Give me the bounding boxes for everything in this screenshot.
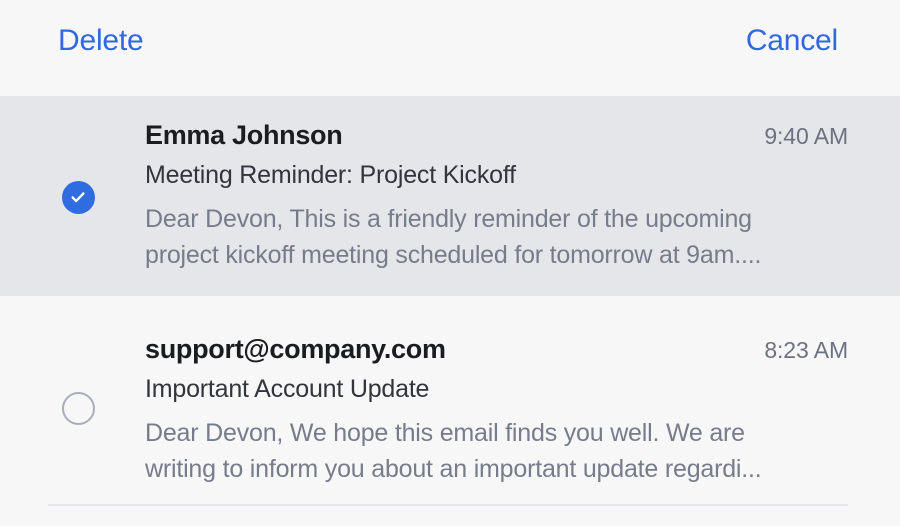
selection-toolbar: Delete Cancel bbox=[0, 0, 900, 82]
mail-header-line: support@company.com 8:23 AM bbox=[145, 334, 848, 364]
preview-text: Dear Devon, We hope this email finds you… bbox=[145, 415, 805, 487]
list-divider bbox=[48, 504, 848, 506]
select-checkbox-cell[interactable] bbox=[48, 118, 108, 274]
timestamp: 9:40 AM bbox=[764, 123, 848, 150]
mail-content: Emma Johnson 9:40 AM Meeting Reminder: P… bbox=[108, 118, 848, 273]
preview-text: Dear Devon, This is a friendly reminder … bbox=[145, 201, 805, 273]
checkbox-unchecked[interactable] bbox=[62, 392, 95, 425]
delete-button[interactable]: Delete bbox=[58, 26, 144, 56]
mail-header-line: Emma Johnson 9:40 AM bbox=[145, 120, 848, 150]
select-checkbox-cell[interactable] bbox=[48, 332, 108, 483]
mail-content: support@company.com 8:23 AM Important Ac… bbox=[108, 332, 848, 487]
cancel-button[interactable]: Cancel bbox=[746, 26, 838, 56]
mail-list-item[interactable]: support@company.com 8:23 AM Important Ac… bbox=[0, 310, 900, 505]
check-icon bbox=[69, 188, 87, 206]
subject-line: Important Account Update bbox=[145, 375, 848, 403]
mail-list: Emma Johnson 9:40 AM Meeting Reminder: P… bbox=[0, 96, 900, 505]
checkbox-checked[interactable] bbox=[62, 181, 95, 214]
sender-name: support@company.com bbox=[145, 334, 446, 364]
sender-name: Emma Johnson bbox=[145, 120, 342, 150]
mail-list-item[interactable]: Emma Johnson 9:40 AM Meeting Reminder: P… bbox=[0, 96, 900, 296]
subject-line: Meeting Reminder: Project Kickoff bbox=[145, 161, 848, 189]
timestamp: 8:23 AM bbox=[764, 337, 848, 364]
